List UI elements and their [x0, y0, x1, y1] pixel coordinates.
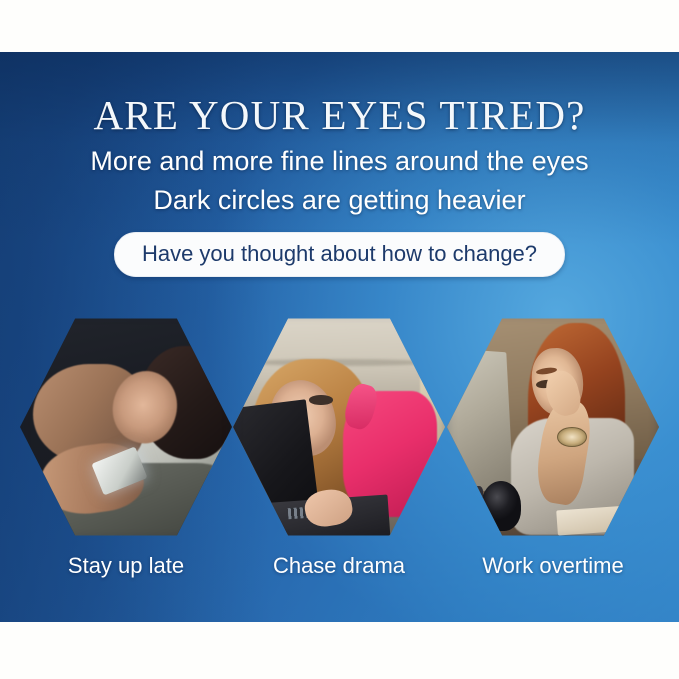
page-title: ARE YOUR EYES TIRED?: [0, 93, 679, 137]
cta-container: Have you thought about how to change?: [0, 232, 679, 277]
cta-pill-button[interactable]: Have you thought about how to change?: [114, 232, 565, 277]
card-caption-chase-drama: Chase drama: [233, 552, 445, 579]
hexagon-photo-work-overtime: [447, 314, 659, 540]
photo-woman-asleep-in-bed: [20, 314, 232, 540]
photo-woman-at-desk: [447, 314, 659, 540]
promotional-poster: ARE YOUR EYES TIRED? More and more fine …: [0, 0, 679, 679]
lamp-shape: [481, 481, 521, 531]
letterbox-band-top: [0, 0, 679, 52]
poster-stage: ARE YOUR EYES TIRED? More and more fine …: [0, 52, 679, 622]
monitor-shape: [447, 347, 514, 493]
card-caption-work-overtime: Work overtime: [447, 552, 659, 579]
hexagon-card-work-overtime[interactable]: [447, 314, 659, 540]
letterbox-band-bottom: [0, 622, 679, 679]
paper-shape: [556, 506, 630, 536]
hexagon-card-row: [0, 314, 679, 544]
hexagon-photo-stay-up-late: [20, 314, 232, 540]
desk-shape: [447, 486, 659, 540]
card-caption-stay-up-late: Stay up late: [20, 552, 232, 579]
hexagon-card-stay-up-late[interactable]: [20, 314, 232, 540]
subtitle-line-2: Dark circles are getting heavier: [0, 184, 679, 217]
photo-woman-watching-laptop: [233, 314, 445, 540]
hexagon-photo-chase-drama: [233, 314, 445, 540]
hexagon-card-chase-drama[interactable]: [233, 314, 445, 540]
pen-cup-shape: [451, 486, 483, 531]
subtitle-line-1: More and more fine lines around the eyes: [0, 145, 679, 178]
wristwatch-shape: [557, 427, 587, 447]
right-eye-shape: [309, 395, 332, 404]
